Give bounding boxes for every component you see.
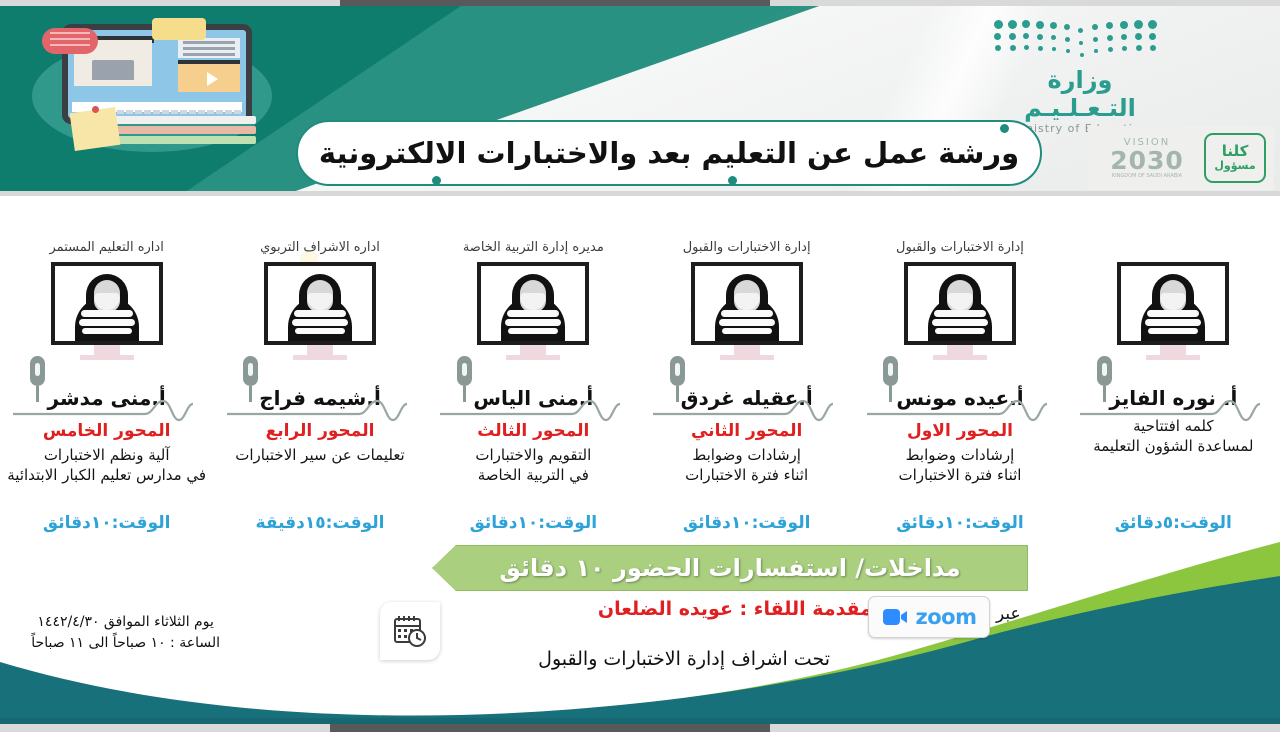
kolona-masoul-badge: كلنا مسؤول (1204, 133, 1266, 183)
speaker-axis: المحور الاول (907, 421, 1013, 441)
speaker-time: الوقت:١٥دقيقة (256, 513, 385, 533)
page-title: ورشة عمل عن التعليم بعد والاختبارات الال… (319, 136, 1019, 170)
speaker-name-row: أ.منى الياس (427, 360, 640, 412)
badges-group: كلنا مسؤول VISION 2030 KINGDOM OF SAUDI … (1088, 126, 1274, 190)
presenter-line: مقدمة اللقاء : عويده الضلعان (598, 598, 872, 620)
calendar-card (380, 602, 440, 660)
monitor-stand (947, 345, 973, 355)
screen-text-block (178, 38, 240, 58)
speaker-department: إدارة الاختبارات والقبول (640, 240, 853, 255)
speaker-monitor (1117, 262, 1229, 360)
speaker-topic: آلية ونظم الاختبارات في مدارس تعليم الكب… (7, 445, 206, 486)
speaker-card[interactable]: إدارة الاختبارات والقبول أ.عيده مونس (853, 196, 1066, 541)
speaker-axis: المحور الثالث (477, 421, 589, 441)
event-datetime: يوم الثلاثاء الموافق ١٤٤٢/٤/٣٠ الساعة : … (31, 612, 220, 654)
play-icon (207, 72, 218, 86)
kolona-line2: مسؤول (1214, 160, 1255, 172)
avatar (481, 266, 585, 341)
audience-questions-band: مداخلات/ استفسارات الحضور ١٠ دقائق (432, 545, 1028, 591)
title-dot-2 (728, 176, 737, 185)
speaker-department: اداره الاشراف التربوي (213, 240, 426, 255)
supervision-line: تحت اشراف إدارة الاختبارات والقبول (538, 648, 830, 670)
speaker-time: الوقت:١٠دقائق (683, 513, 811, 533)
speaker-department: إدارة الاختبارات والقبول (853, 240, 1066, 255)
avatar (908, 266, 1012, 341)
speaker-photo-frame (51, 262, 163, 345)
waveform-line (653, 398, 853, 424)
speaker-name-row: أ.عيده مونس (853, 360, 1066, 412)
speaker-monitor (51, 262, 163, 360)
monitor-stand (1160, 345, 1186, 355)
speaker-photo-frame (691, 262, 803, 345)
speaker-axis: المحور الثاني (691, 421, 802, 441)
speaker-topic: إرشادات وضوابط اثناء فترة الاختبارات (898, 445, 1021, 486)
zoom-platform-button[interactable]: zoom (868, 596, 990, 638)
via-label: عبر (996, 604, 1021, 624)
speaker-name-row: أ.عقيله غردق (640, 360, 853, 412)
waveform-line (867, 398, 1067, 424)
zoom-wordmark: zoom (916, 605, 977, 629)
speakers-row: اداره التعليم المستمر أ.منى مدشر (0, 196, 1280, 541)
chat-bubble-red-icon (42, 28, 98, 54)
video-camera-icon (882, 607, 908, 627)
title-dot-1 (1000, 124, 1009, 133)
speaker-photo-frame (1117, 262, 1229, 345)
speaker-topic: التقويم والاختبارات في التربية الخاصة (475, 445, 591, 486)
waveform-line (440, 398, 640, 424)
chat-bubble-yellow-icon (152, 18, 206, 40)
sticky-note-icon (70, 107, 121, 151)
vision-2030-logo: VISION 2030 KINGDOM OF SAUDI ARABIA (1096, 137, 1198, 179)
speaker-topic: إرشادات وضوابط اثناء فترة الاختبارات (685, 445, 808, 486)
speaker-card[interactable]: اداره التعليم المستمر أ.منى مدشر (0, 196, 213, 541)
speaker-time: الوقت:٥دقائق (1115, 513, 1232, 533)
poster-title: ورشة عمل عن التعليم بعد والاختبارات الال… (296, 120, 1042, 186)
waveform-line (227, 398, 427, 424)
speaker-time: الوقت:١٠دقائق (896, 513, 1024, 533)
speaker-department: اداره التعليم المستمر (0, 240, 213, 255)
poster-canvas: وزارة التـعـلـيـم Ministry of Education … (0, 0, 1280, 732)
pin-icon (92, 106, 99, 113)
waveform-line (13, 398, 213, 424)
moe-dot-pattern-icon (994, 18, 1170, 62)
speaker-monitor (691, 262, 803, 360)
title-dot-3 (432, 176, 441, 185)
speaker-axis: المحور الرابع (266, 421, 375, 441)
speaker-monitor (904, 262, 1016, 360)
speaker-name-row: أ. نوره الفايز (1067, 360, 1280, 412)
speaker-card[interactable]: أ. نوره الفايز كلمه افتتاحية لمساعدة الش… (1067, 196, 1280, 541)
speaker-photo-frame (904, 262, 1016, 345)
ministry-logo: وزارة التـعـلـيـم Ministry of Education (990, 18, 1170, 118)
avatar (1121, 266, 1225, 341)
kolona-line1: كلنا (1222, 144, 1249, 160)
speaker-time: الوقت:١٠دقائق (470, 513, 598, 533)
speaker-time: الوقت:١٠دقائق (43, 513, 171, 533)
speaker-monitor (477, 262, 589, 360)
speaker-monitor (264, 262, 376, 360)
speaker-photo-frame (477, 262, 589, 345)
event-date: يوم الثلاثاء الموافق ١٤٤٢/٤/٣٠ (31, 612, 220, 633)
monitor-stand (520, 345, 546, 355)
monitor-stand (734, 345, 760, 355)
speaker-department: مديره إدارة التربية الخاصة (427, 240, 640, 255)
elearning-illustration (24, 18, 282, 163)
waveform-line (1080, 398, 1280, 424)
band-label: مداخلات/ استفسارات الحضور ١٠ دقائق (432, 545, 1028, 591)
speaker-name-row: أ.منى مدشر (0, 360, 213, 412)
calendar-clock-icon (392, 614, 428, 648)
event-time: الساعة : ١٠ صباحاً الى ١١ صباحاً (31, 633, 220, 654)
speaker-card[interactable]: اداره الاشراف التربوي أ.شيمه فراج (213, 196, 426, 541)
laptop-glyph (92, 60, 134, 80)
monitor-stand (307, 345, 333, 355)
speaker-card[interactable]: مديره إدارة التربية الخاصة أ.منى الياس (427, 196, 640, 541)
speaker-topic: تعليمات عن سير الاختبارات (235, 445, 404, 465)
speaker-card[interactable]: إدارة الاختبارات والقبول أ.عقيله غردق (640, 196, 853, 541)
vision-year: 2030 (1096, 148, 1198, 173)
ministry-name-arabic: وزارة التـعـلـيـم (990, 66, 1170, 122)
speaker-name-row: أ.شيمه فراج (213, 360, 426, 412)
avatar (695, 266, 799, 341)
speaker-photo-frame (264, 262, 376, 345)
avatar (268, 266, 372, 341)
monitor-stand (94, 345, 120, 355)
bottom-strip-dark-segment (330, 724, 770, 732)
speaker-axis: المحور الخامس (43, 421, 171, 441)
avatar (55, 266, 159, 341)
